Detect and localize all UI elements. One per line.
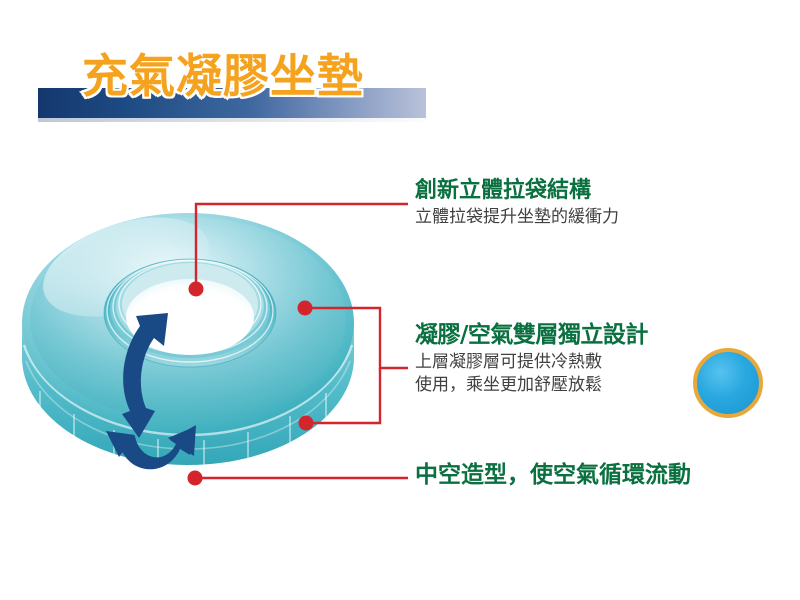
annotation-2-heading: 凝膠/空氣雙層獨立設計 (415, 322, 648, 348)
annotation-2-body-line-1: 上層凝膠層可提供冷熱敷 (415, 351, 648, 374)
annotation-3-heading: 中空造型，使空氣循環流動 (415, 462, 691, 488)
annotation-block-3: 中空造型，使空氣循環流動 (415, 462, 691, 488)
gel-layer-swatch-icon (693, 348, 763, 418)
infographic-canvas: 充氣凝膠坐墊 (0, 0, 800, 600)
annotation-1-heading: 創新立體拉袋結構 (415, 178, 619, 203)
title-banner-shadow (38, 118, 426, 122)
annotation-1-body: 立體拉袋提升坐墊的緩衝力 (415, 206, 619, 229)
product-illustration (18, 195, 358, 485)
annotation-block-1: 創新立體拉袋結構 立體拉袋提升坐墊的緩衝力 (415, 178, 619, 229)
annotation-2-body-line-2: 使用，乘坐更加舒壓放鬆 (415, 374, 648, 397)
page-title: 充氣凝膠坐墊 (82, 52, 364, 100)
annotation-block-2: 凝膠/空氣雙層獨立設計 上層凝膠層可提供冷熱敷 使用，乘坐更加舒壓放鬆 (415, 322, 648, 397)
